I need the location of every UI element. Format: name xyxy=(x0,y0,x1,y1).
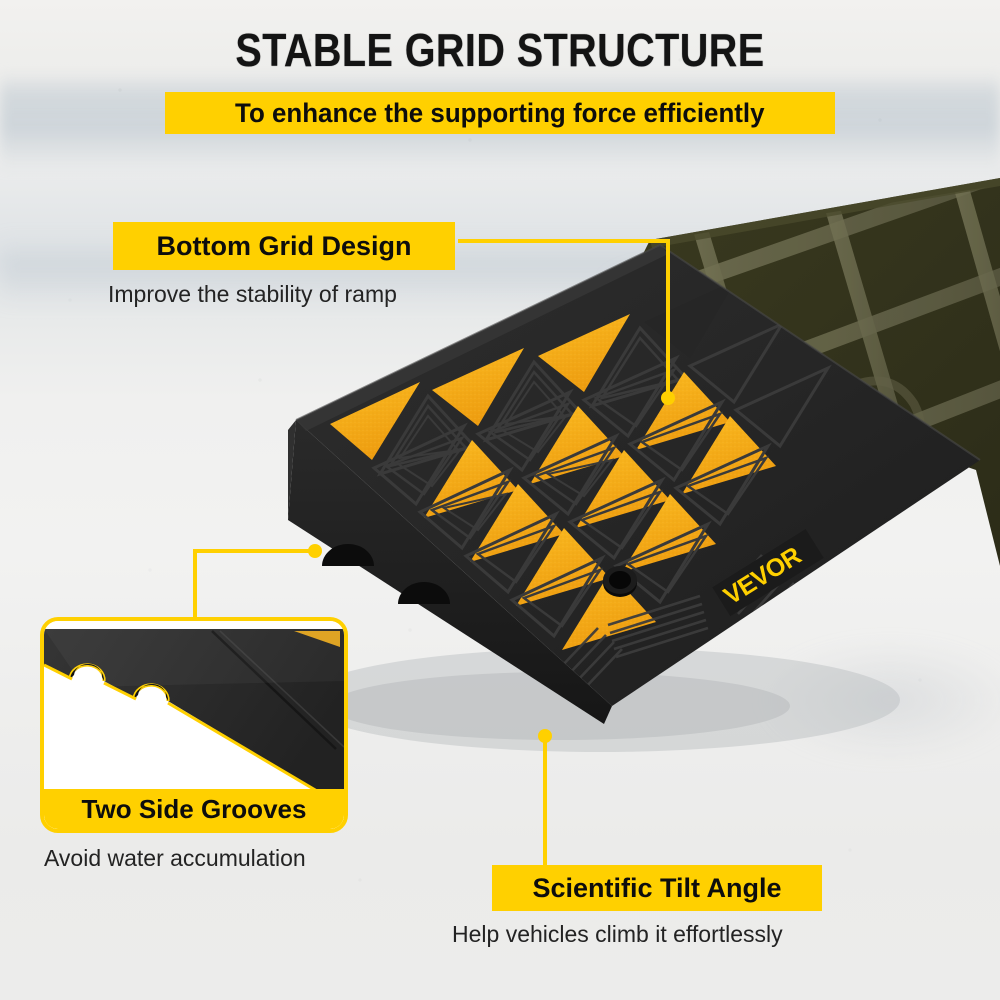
callout-badge-label: Scientific Tilt Angle xyxy=(532,873,781,904)
callout-description-scientific-tilt-angle: Help vehicles climb it effortlessly xyxy=(452,921,783,948)
callout-badge-scientific-tilt-angle: Scientific Tilt Angle xyxy=(492,865,822,911)
connector-endpoint-dot xyxy=(661,391,675,405)
page-subtitle-text: To enhance the supporting force efficien… xyxy=(235,98,765,129)
page-title: STABLE GRID STRUCTURE xyxy=(70,24,930,76)
callout-badge-label: Two Side Grooves xyxy=(82,794,307,825)
connector-segment-horizontal xyxy=(458,239,670,243)
callout-description-two-side-grooves: Avoid water accumulation xyxy=(44,845,306,872)
connector-segment-vertical xyxy=(193,549,197,621)
connector-segment-vertical xyxy=(666,239,670,397)
callout-description-bottom-grid: Improve the stability of ramp xyxy=(108,281,397,308)
callout-inset-two-side-grooves: Two Side Grooves xyxy=(40,617,348,833)
page-subtitle-banner: To enhance the supporting force efficien… xyxy=(165,92,835,134)
callout-badge-bottom-grid: Bottom Grid Design xyxy=(113,222,455,270)
connector-endpoint-dot xyxy=(538,729,552,743)
connector-endpoint-dot xyxy=(308,544,322,558)
connector-segment-vertical xyxy=(543,735,547,869)
connector-segment-horizontal xyxy=(193,549,315,553)
callout-badge-label: Bottom Grid Design xyxy=(157,231,412,262)
inset-caption-bar: Two Side Grooves xyxy=(44,789,344,829)
